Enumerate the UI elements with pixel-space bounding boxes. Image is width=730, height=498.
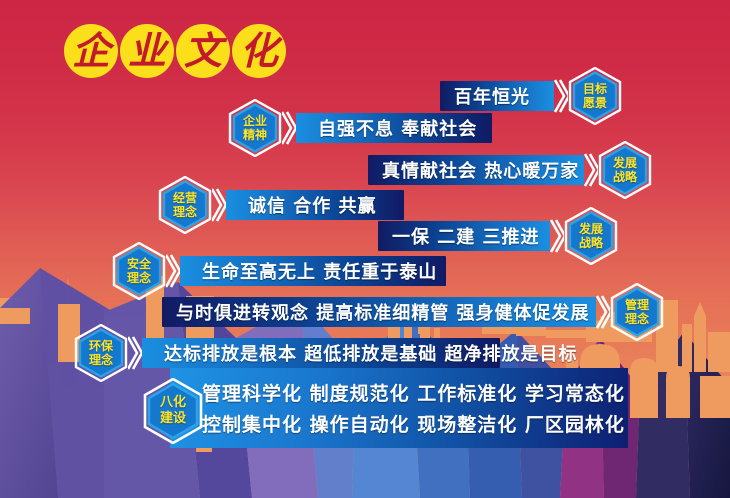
badge-label: 发展 战略 xyxy=(613,156,637,184)
title-char: 企 xyxy=(64,24,118,78)
badge-label: 环保 理念 xyxy=(89,339,113,367)
badge-label-line1: 发展 xyxy=(613,156,637,170)
badge-label-line2: 理念 xyxy=(89,353,113,367)
chevron-right-icon xyxy=(584,153,598,187)
culture-bar: 自强不息 奉献社会 xyxy=(296,113,492,143)
badge-label-line2: 精神 xyxy=(243,128,267,142)
chevron-right-icon xyxy=(128,336,142,370)
corporate-culture-poster: 企 业 文 化 百年恒光 目标 愿景 xyxy=(0,0,730,498)
badge-label: 企业 精神 xyxy=(243,114,267,142)
badge-label-line2: 战略 xyxy=(613,170,637,184)
chevron-right-icon xyxy=(550,219,564,253)
badge-label-line1: 目标 xyxy=(583,82,607,96)
eight-line-1: 管理科学化 制度规范化 工作标准化 学习常态化 xyxy=(202,379,628,406)
badge-label-line1: 环保 xyxy=(89,339,113,353)
culture-bar-text: 生命至高无上 责任重于泰山 xyxy=(202,258,437,284)
culture-bar: 生命至高无上 责任重于泰山 xyxy=(180,256,446,286)
badge-label-line1: 发展 xyxy=(579,222,603,236)
badge-label-line2: 建设 xyxy=(160,411,186,427)
badge-management-philosophy[interactable]: 管理 理念 xyxy=(610,283,664,341)
badge-label: 发展 战略 xyxy=(579,222,603,250)
badge-label-line1: 安全 xyxy=(127,257,151,271)
culture-bar: 与时俱进转观念 提高标准细精管 强身健体促发展 xyxy=(162,297,596,327)
badge-environment-philosophy[interactable]: 环保 理念 xyxy=(74,324,128,382)
culture-bar: 达标排放是根本 超低排放是基础 超净排放是目标 xyxy=(142,338,500,368)
badge-corporate-spirit[interactable]: 企业 精神 xyxy=(228,99,282,157)
badge-eight-modernizations[interactable]: 八化 建设 xyxy=(142,378,204,444)
badge-label-line2: 愿景 xyxy=(583,96,607,110)
badge-label: 管理 理念 xyxy=(625,298,649,326)
badge-label: 经营 理念 xyxy=(173,191,197,219)
culture-bar-text: 与时俱进转观念 提高标准细精管 强身健体促发展 xyxy=(176,299,590,325)
culture-bar-text: 达标排放是根本 超低排放是基础 超净排放是目标 xyxy=(164,340,578,366)
chevron-right-icon xyxy=(554,79,568,113)
chevron-right-icon xyxy=(282,111,296,145)
badge-label-line2: 理念 xyxy=(127,271,151,285)
eight-line-2: 控制集中化 操作自动化 现场整洁化 厂区园林化 xyxy=(202,410,628,437)
culture-bar-text: 真情献社会 热心暖万家 xyxy=(382,157,579,183)
culture-row-business-idea: 经营 理念 诚信 合作 共赢 xyxy=(158,176,404,234)
title-char: 业 xyxy=(120,24,174,78)
culture-bar-text: 自强不息 奉献社会 xyxy=(318,115,477,141)
title-char: 化 xyxy=(232,24,286,78)
chevron-right-icon xyxy=(212,188,226,222)
badge-label: 八化 建设 xyxy=(160,395,186,427)
badge-development-strategy-2[interactable]: 发展 战略 xyxy=(564,207,618,265)
badge-label-line1: 管理 xyxy=(625,298,649,312)
badge-label-line1: 经营 xyxy=(173,191,197,205)
badge-development-strategy[interactable]: 发展 战略 xyxy=(598,141,652,199)
badge-label: 目标 愿景 xyxy=(583,82,607,110)
title-char: 文 xyxy=(176,24,230,78)
culture-row-environment: 环保 理念 达标排放是根本 超低排放是基础 超净排放是目标 xyxy=(74,324,500,382)
poster-title: 企 业 文 化 xyxy=(64,24,286,78)
badge-label: 安全 理念 xyxy=(127,257,151,285)
chevron-right-icon xyxy=(596,295,610,329)
badge-label-line2: 理念 xyxy=(173,205,197,219)
badge-vision[interactable]: 目标 愿景 xyxy=(568,67,622,125)
badge-label-line2: 理念 xyxy=(625,312,649,326)
culture-bar-text: 诚信 合作 共赢 xyxy=(248,192,377,218)
badge-label-line1: 八化 xyxy=(160,395,186,411)
badge-business-philosophy[interactable]: 经营 理念 xyxy=(158,176,212,234)
badge-label-line2: 战略 xyxy=(579,236,603,250)
badge-safety-philosophy[interactable]: 安全 理念 xyxy=(112,242,166,300)
badge-label-line1: 企业 xyxy=(243,114,267,128)
culture-row-strategy-1: 真情献社会 热心暖万家 发展 战略 xyxy=(368,141,652,199)
